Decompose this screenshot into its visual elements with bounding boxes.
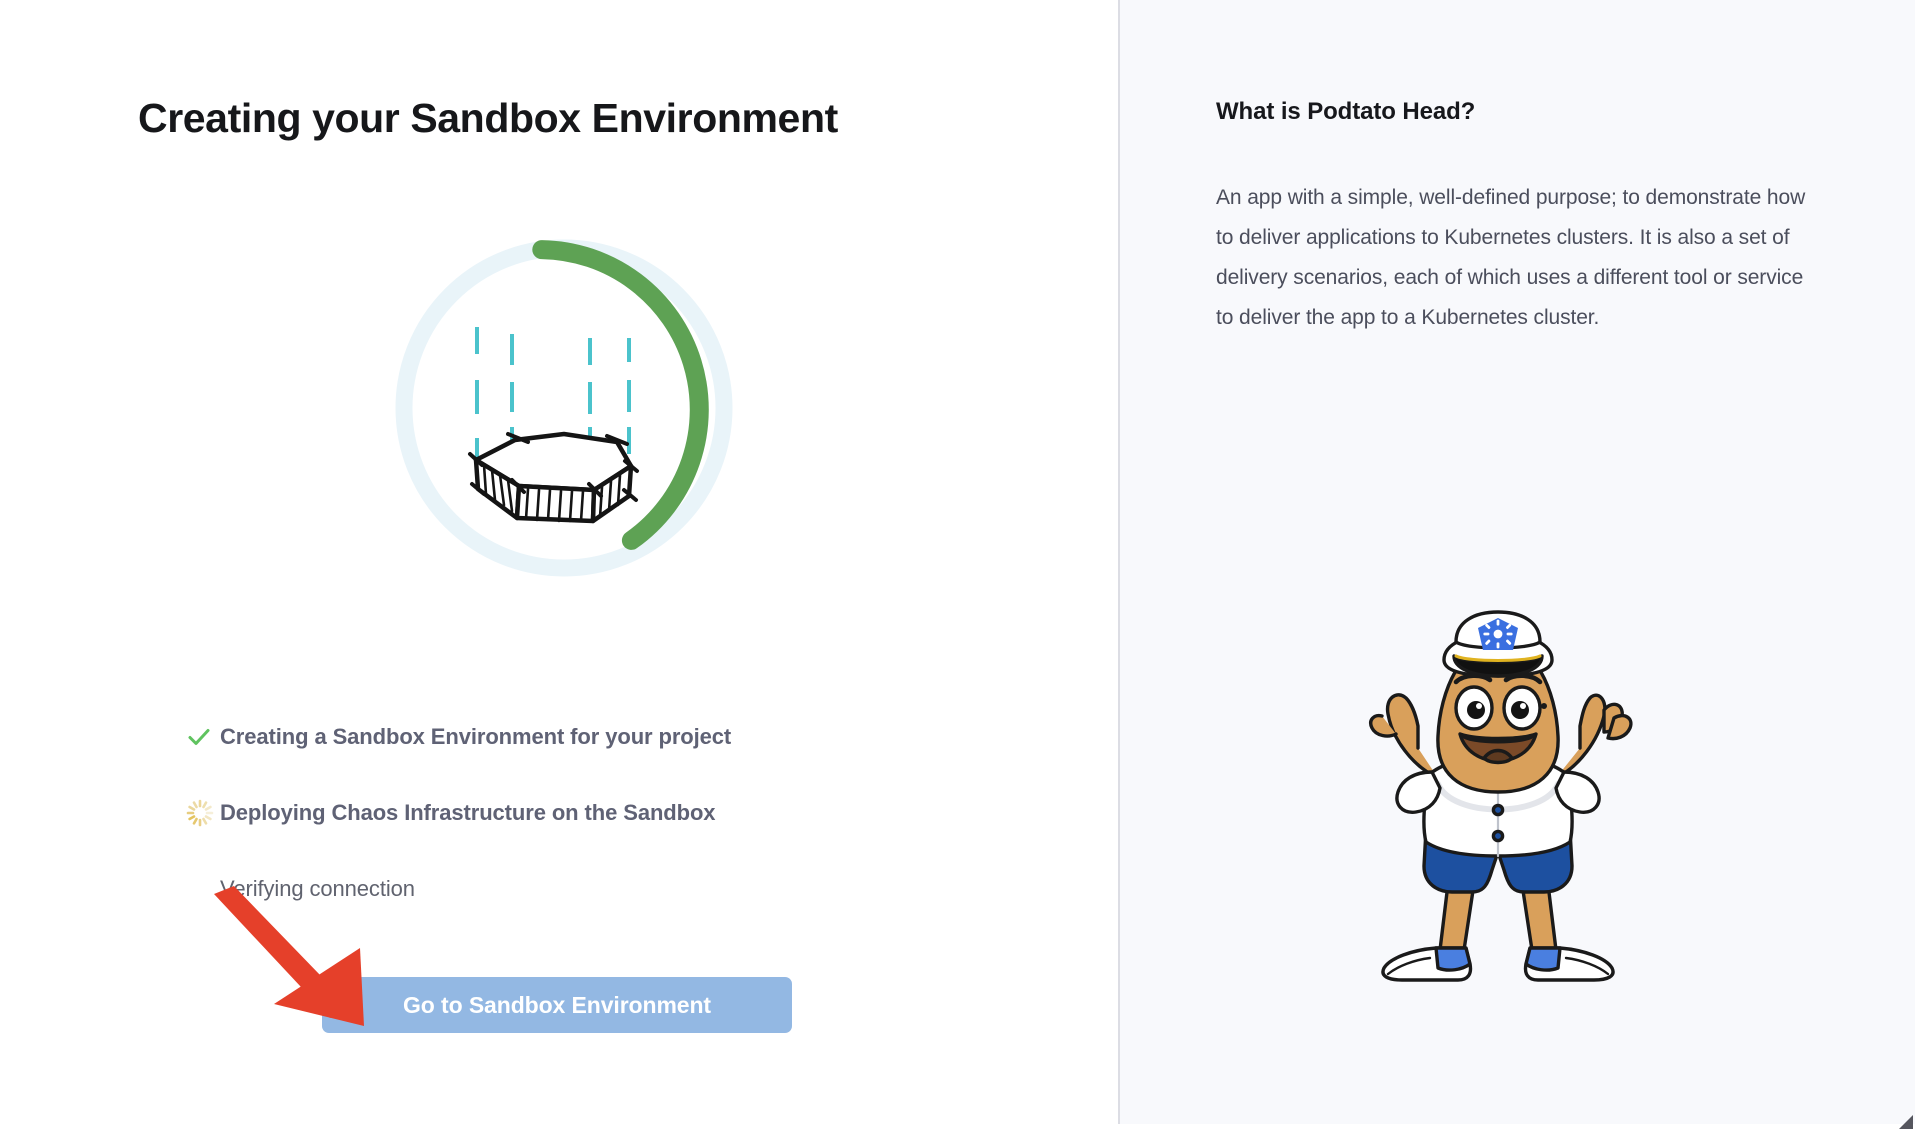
sandbox-progress-illustration xyxy=(378,222,750,594)
setup-step-label: Verifying connection xyxy=(220,876,415,902)
setup-step-label: Creating a Sandbox Environment for your … xyxy=(220,724,731,750)
setup-pane: Creating your Sandbox Environment xyxy=(0,0,1118,1131)
info-heading: What is Podtato Head? xyxy=(1216,98,1475,126)
pending-step-icon xyxy=(186,874,220,904)
setup-step-row: Deploying Chaos Infrastructure on the Sa… xyxy=(186,794,946,832)
spinner-icon xyxy=(186,798,220,828)
page-title: Creating your Sandbox Environment xyxy=(138,95,838,142)
setup-step-list: Creating a Sandbox Environment for your … xyxy=(186,718,946,908)
resize-grip-icon[interactable] xyxy=(1899,1115,1913,1129)
check-icon xyxy=(186,722,220,752)
go-to-sandbox-environment-button[interactable]: Go to Sandbox Environment xyxy=(322,977,792,1033)
setup-step-label: Deploying Chaos Infrastructure on the Sa… xyxy=(220,800,715,826)
setup-step-row: Creating a Sandbox Environment for your … xyxy=(186,718,946,756)
info-body-text: An app with a simple, well-defined purpo… xyxy=(1216,178,1816,338)
podtato-head-mascot-icon xyxy=(1352,598,1642,988)
sandbox-setup-screen: Creating your Sandbox Environment xyxy=(0,0,1915,1131)
setup-step-row: Verifying connection xyxy=(186,870,946,908)
